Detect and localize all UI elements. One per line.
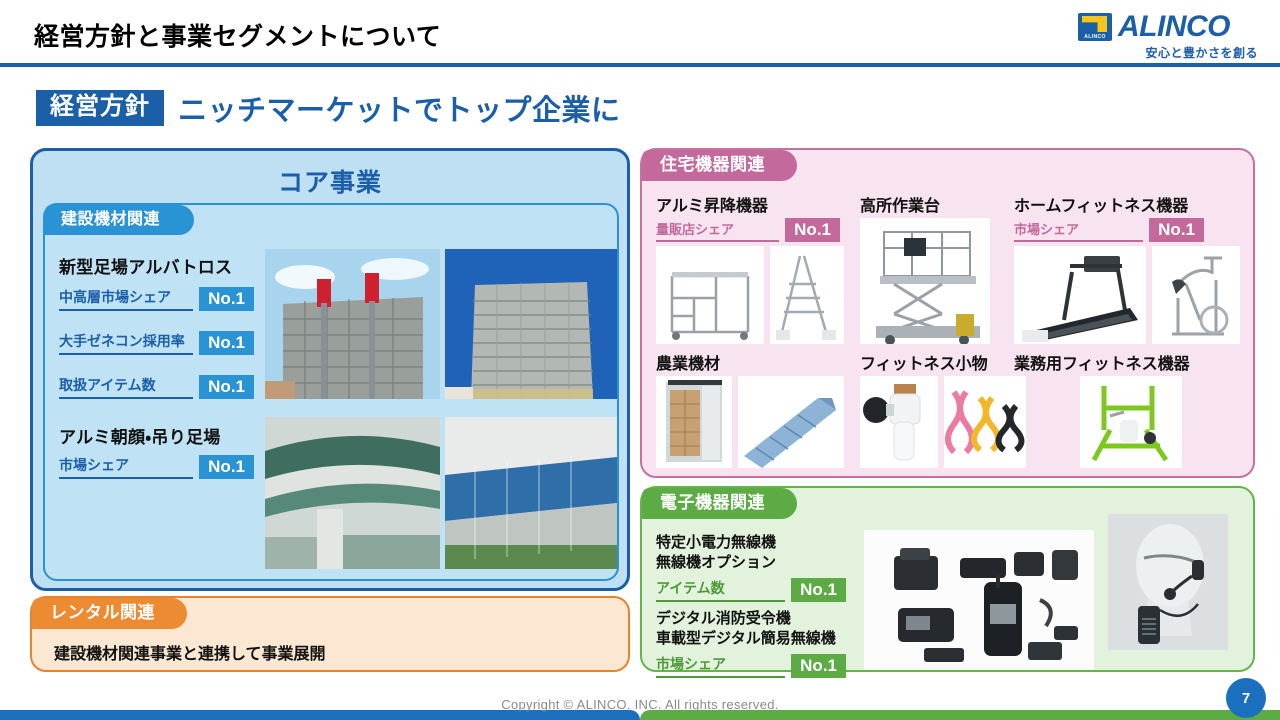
electronics-product-line: デジタル消防受令機: [656, 610, 791, 629]
metric-label: 市場シェア: [1014, 219, 1143, 242]
product-name-albatross: 新型足場アルバトロス: [59, 253, 232, 278]
metric-label: 市場シェア: [656, 654, 785, 678]
metric-row: 市場シェア No.1: [59, 455, 254, 479]
housing-item-title: 業務用フィットネス機器: [1014, 350, 1190, 374]
photo-headset-mannequin: [1108, 514, 1228, 650]
logo-tagline: 安心と豊かさを創る: [1078, 44, 1258, 61]
rank-badge: No.1: [791, 654, 846, 678]
rental-panel: レンタル関連 建設機材関連事業と連携して事業展開: [30, 596, 630, 672]
construction-equipment-section: 建設機材関連 新型足場アルバトロス 中高層市場シェア No.1 大手ゼネコン採用…: [43, 203, 619, 581]
metric-label: 量販店シェア: [656, 219, 779, 242]
housing-item-title: 農業機材: [656, 350, 720, 374]
housing-item-title: ホームフィットネス機器: [1014, 192, 1188, 216]
product-name-asagao: アルミ朝顔・吊り足場: [59, 423, 221, 448]
rank-badge: No.1: [199, 287, 254, 311]
alinco-logo: ALINCO ALINCO 安心と豊かさを創る: [1078, 12, 1258, 58]
core-business-panel: コア事業 建設機材関連 新型足場アルバトロス 中高層市場シェア No.1 大手ゼ…: [30, 148, 630, 591]
photo-rice-storage: [656, 376, 732, 468]
electronics-tab: 電子機器関連: [642, 488, 797, 519]
rank-badge: No.1: [1149, 218, 1204, 242]
housing-item-title: 高所作業台: [860, 192, 940, 216]
rank-badge: No.1: [199, 331, 254, 355]
rank-badge: No.1: [791, 578, 846, 602]
housing-item-title: アルミ昇降機器: [656, 192, 768, 216]
photo-radio-equipment-set: [864, 530, 1094, 670]
rank-badge: No.1: [199, 375, 254, 399]
metric-row: 市場シェア No.1: [656, 654, 846, 678]
metric-row: 市場シェア No.1: [1014, 218, 1204, 242]
logo-wordmark: ALINCO: [1118, 12, 1230, 42]
logo-mark-text: ALINCO: [1078, 34, 1112, 40]
copyright-text: Copyright © ALINCO. INC. All rights rese…: [0, 697, 1280, 712]
electronics-product-line: 特定小電力無線機: [656, 534, 776, 553]
photo-scaffold-tower: [265, 249, 440, 399]
metric-label: 中高層市場シェア: [59, 287, 193, 311]
metric-row: 量販店シェア No.1: [656, 218, 840, 242]
metric-row: アイテム数 No.1: [656, 578, 846, 602]
rental-tab: レンタル関連: [32, 598, 187, 629]
housing-item-title: フィットネス小物: [860, 350, 988, 374]
metric-row: 大手ゼネコン採用率 No.1: [59, 331, 254, 355]
metric-label: 取扱アイテム数: [59, 375, 193, 399]
photo-treadmill: [1014, 246, 1146, 344]
metric-label: 市場シェア: [59, 455, 193, 479]
policy-badge: 経営方針: [36, 90, 164, 126]
metric-row: 取扱アイテム数 No.1: [59, 375, 254, 399]
photo-commercial-fitness-machine: [1080, 376, 1182, 468]
photo-overpass-scaffold: [265, 417, 440, 569]
slide-footer: Copyright © ALINCO. INC. All rights rese…: [0, 686, 1280, 720]
photo-step-ladder: [770, 246, 844, 344]
page-number-badge: 7: [1226, 678, 1266, 718]
metric-row: 中高層市場シェア No.1: [59, 287, 254, 311]
metric-label: アイテム数: [656, 578, 785, 602]
photo-scissor-lift: [860, 218, 990, 344]
electronics-product-line: 車載型デジタル簡易無線機: [656, 630, 836, 649]
slide-header: 経営方針と事業セグメントについて ALINCO ALINCO 安心と豊かさを創る: [0, 0, 1280, 66]
photo-loading-ramp: [738, 376, 844, 468]
construction-equipment-tab: 建設機材関連: [45, 205, 194, 235]
rental-description: 建設機材関連事業と連携して事業展開: [54, 640, 326, 664]
policy-headline: ニッチマーケットでトップ企業に: [178, 87, 621, 129]
photo-exercise-bike: [1152, 246, 1240, 344]
metric-label: 大手ゼネコン採用率: [59, 331, 193, 355]
housing-equipment-panel: 住宅機器関連 アルミ昇降機器 量販店シェア No.1: [640, 148, 1255, 478]
rank-badge: No.1: [785, 218, 840, 242]
photo-massage-gun: [860, 376, 938, 468]
electronics-panel: 電子機器関連 特定小電力無線機 無線機オプション アイテム数 No.1 デジタル…: [640, 486, 1255, 672]
rank-badge: No.1: [199, 455, 254, 479]
photo-building-facade: [445, 417, 617, 569]
header-divider: [0, 63, 1280, 67]
alinco-logo-mark-icon: ALINCO: [1078, 13, 1112, 41]
policy-strip: 経営方針 ニッチマーケットでトップ企業に: [36, 87, 621, 129]
core-business-title: コア事業: [33, 163, 627, 199]
housing-equipment-tab: 住宅機器関連: [642, 150, 797, 181]
electronics-product-line: 無線機オプション: [656, 554, 776, 573]
photo-aluminum-work-platform: [656, 246, 764, 344]
photo-scaffold-highrise: [445, 249, 617, 399]
photo-resistance-bands: [944, 376, 1026, 468]
page-title: 経営方針と事業セグメントについて: [34, 17, 441, 53]
